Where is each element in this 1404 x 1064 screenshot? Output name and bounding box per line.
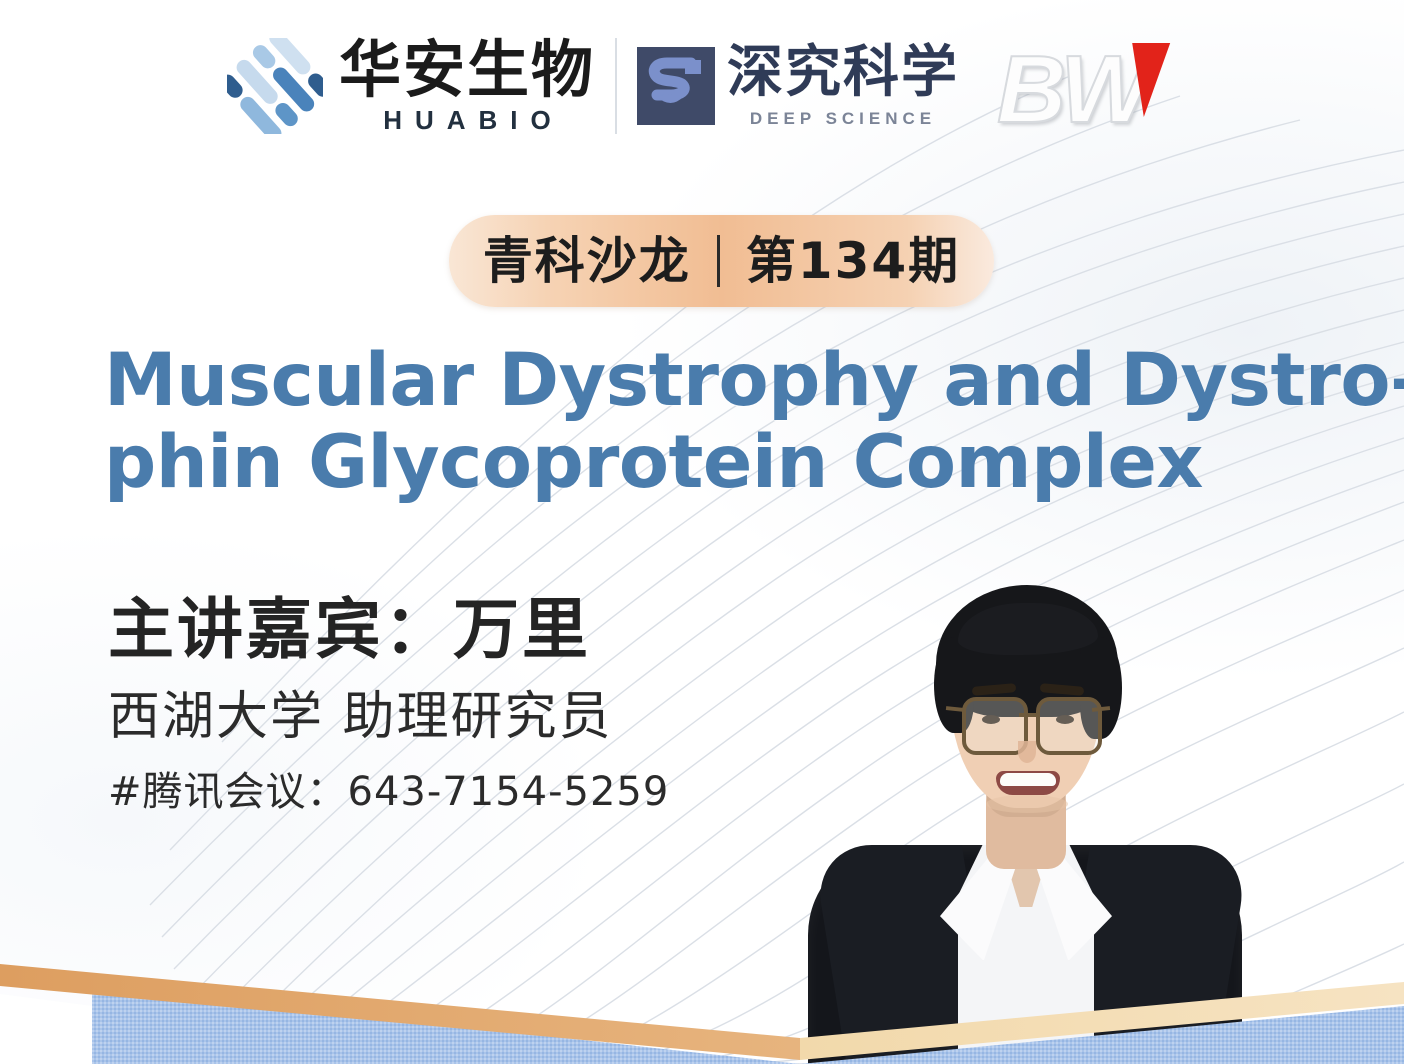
portrait-nose xyxy=(1018,741,1036,763)
huabio-wordmark: 华安生物 HUABIO xyxy=(339,39,595,133)
meeting-id: #腾讯会议：643-7154-5259 xyxy=(108,771,669,813)
page-title: Muscular Dystrophy and Dystro- phin Glyc… xyxy=(104,340,1364,504)
logo-divider xyxy=(615,38,617,134)
portrait-teeth xyxy=(1000,773,1056,786)
huabio-en-name: HUABIO xyxy=(370,107,564,133)
page-title-line-1: Muscular Dystrophy and Dystro- xyxy=(104,340,1364,422)
series-badge: 青科沙龙 第134期 xyxy=(449,215,994,307)
ribbon-left-notch xyxy=(0,994,92,1064)
speaker-affiliation: 西湖大学 助理研究员 xyxy=(108,690,669,745)
portrait-chin-shadow xyxy=(986,795,1068,813)
logo-row: 华安生物 HUABIO 深究科学 DEEP SCIENCE BW xyxy=(0,22,1404,150)
huabio-stripes-icon xyxy=(227,38,323,134)
logo-bw: BW xyxy=(997,31,1187,141)
deep-science-en-name: DEEP SCIENCE xyxy=(750,110,936,127)
speaker-name: 主讲嘉宾：万里 xyxy=(108,595,669,664)
logo-deep-science: 深究科学 DEEP SCIENCE xyxy=(637,45,959,127)
badge-series-label: 青科沙龙 xyxy=(457,236,717,286)
portrait-glasses-bridge xyxy=(1019,713,1038,717)
poster-canvas: 华安生物 HUABIO 深究科学 DEEP SCIENCE BW xyxy=(0,0,1404,1064)
deep-science-cn-name: 深究科学 xyxy=(727,45,959,101)
logo-huabio: 华安生物 HUABIO xyxy=(227,38,595,134)
portrait-glasses-right-lens xyxy=(1036,697,1102,755)
huabio-cn-name: 华安生物 xyxy=(339,39,595,101)
page-title-line-2: phin Glycoprotein Complex xyxy=(104,422,1364,504)
bottom-decorative-ribbon xyxy=(0,914,1404,1064)
badge-episode-label: 第134期 xyxy=(720,236,986,286)
speaker-info: 主讲嘉宾：万里 西湖大学 助理研究员 #腾讯会议：643-7154-5259 xyxy=(108,595,669,813)
deep-science-s-icon xyxy=(637,47,715,125)
deep-science-wordmark: 深究科学 DEEP SCIENCE xyxy=(727,45,959,127)
